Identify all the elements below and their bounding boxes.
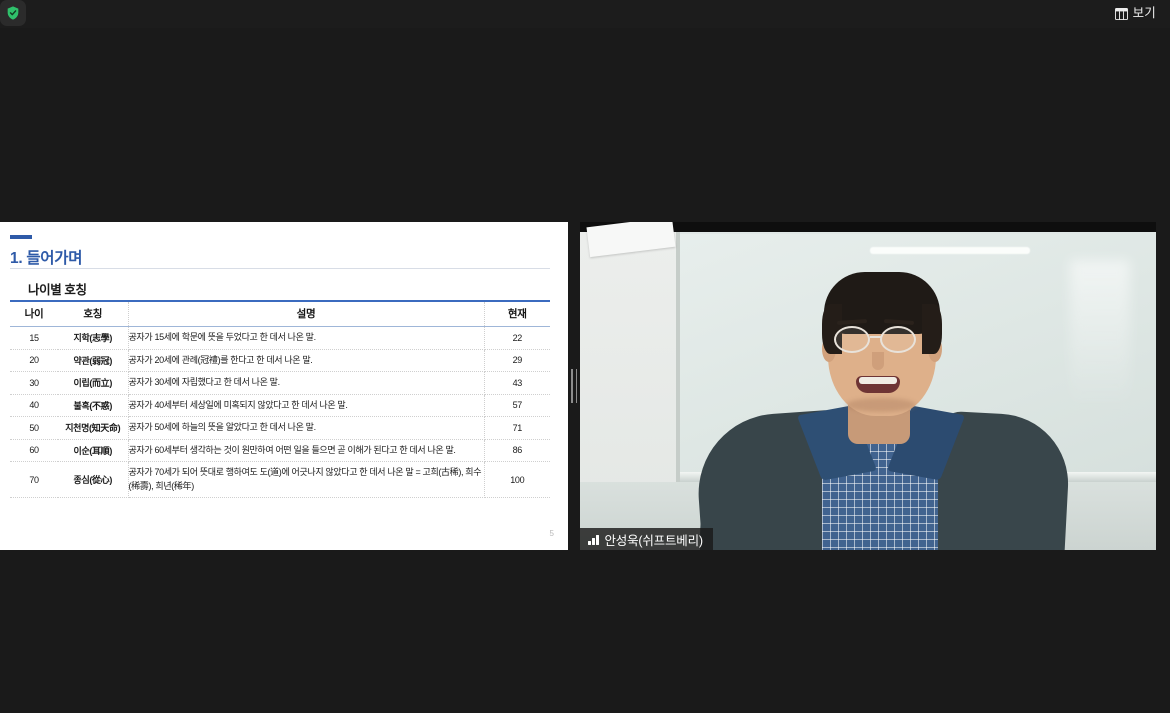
eyeglass-lens-left bbox=[834, 326, 870, 353]
table-row: 60 이순(耳順) 공자가 60세부터 생각하는 것이 원만하여 어떤 일을 들… bbox=[10, 439, 550, 462]
cell-description: 공자가 30세에 자립했다고 한 데서 나온 말. bbox=[128, 372, 484, 395]
cell-description: 공자가 60세부터 생각하는 것이 원만하여 어떤 일을 들으면 곧 이해가 된… bbox=[128, 439, 484, 462]
cell-age: 30 bbox=[10, 372, 58, 395]
cell-name: 약관(弱冠) bbox=[58, 349, 128, 372]
cell-name: 지천명(知天命) bbox=[58, 417, 128, 440]
cell-current: 22 bbox=[484, 327, 550, 350]
ceiling-light-reflection bbox=[870, 247, 1030, 254]
cell-age: 70 bbox=[10, 462, 58, 498]
meeting-top-bar: 보기 bbox=[0, 0, 1170, 28]
shared-screen-panel[interactable]: 1. 들어가며 나이별 호칭 나이 호칭 설명 현재 bbox=[0, 222, 568, 550]
table-header-row: 나이 호칭 설명 현재 bbox=[10, 301, 550, 327]
hair-side-right bbox=[922, 304, 942, 354]
signal-bars-icon bbox=[588, 534, 599, 545]
cell-current: 43 bbox=[484, 372, 550, 395]
cell-age: 20 bbox=[10, 349, 58, 372]
meeting-stage: 1. 들어가며 나이별 호칭 나이 호칭 설명 현재 bbox=[0, 222, 1170, 550]
view-button[interactable]: 보기 bbox=[1109, 3, 1162, 24]
cell-current: 86 bbox=[484, 439, 550, 462]
slide-subtitle: 나이별 호칭 bbox=[28, 279, 87, 298]
cell-age: 40 bbox=[10, 394, 58, 417]
chin-shadow bbox=[846, 398, 916, 412]
table-body: 15 지학(志學) 공자가 15세에 학문에 뜻을 두었다고 한 데서 나온 말… bbox=[10, 327, 550, 498]
cell-age: 60 bbox=[10, 439, 58, 462]
zoom-meeting-window: 보기 1. 들어가며 나이별 호칭 나이 호칭 bbox=[0, 0, 1170, 713]
eyeglass-lens-right bbox=[880, 326, 916, 353]
cell-age: 15 bbox=[10, 327, 58, 350]
video-feed: 안성욱(쉬프트베리) bbox=[580, 222, 1156, 550]
column-header-age: 나이 bbox=[10, 301, 58, 327]
security-shield-icon[interactable] bbox=[0, 0, 26, 26]
cell-current: 71 bbox=[484, 417, 550, 440]
column-header-description: 설명 bbox=[128, 301, 484, 327]
cell-current: 100 bbox=[484, 462, 550, 498]
slide-content: 1. 들어가며 나이별 호칭 나이 호칭 설명 현재 bbox=[0, 222, 568, 550]
cell-current: 29 bbox=[484, 349, 550, 372]
table-row: 50 지천명(知天命) 공자가 50세에 하늘의 뜻을 알았다고 한 데서 나온… bbox=[10, 417, 550, 440]
title-accent-dash bbox=[10, 235, 32, 239]
cell-age: 50 bbox=[10, 417, 58, 440]
grid-view-icon bbox=[1115, 8, 1128, 20]
view-button-label: 보기 bbox=[1133, 7, 1156, 20]
cell-name: 불혹(不惑) bbox=[58, 394, 128, 417]
cell-name: 지학(志學) bbox=[58, 327, 128, 350]
cell-description: 공자가 70세가 되어 뜻대로 행하여도 도(道)에 어긋나지 않았다고 한 데… bbox=[128, 462, 484, 498]
person-mouth bbox=[856, 376, 900, 393]
panel-resize-handle[interactable] bbox=[568, 222, 580, 550]
eyeglass-bridge bbox=[870, 336, 882, 338]
cell-description: 공자가 15세에 학문에 뜻을 두었다고 한 데서 나온 말. bbox=[128, 327, 484, 350]
table-row: 15 지학(志學) 공자가 15세에 학문에 뜻을 두었다고 한 데서 나온 말… bbox=[10, 327, 550, 350]
age-titles-table: 나이 호칭 설명 현재 15 지학(志學) 공자가 15세에 학문에 뜻을 두었… bbox=[10, 300, 550, 498]
title-divider bbox=[10, 268, 550, 269]
table-row: 40 불혹(不惑) 공자가 40세부터 세상일에 미혹되지 않았다고 한 데서 … bbox=[10, 394, 550, 417]
cell-description: 공자가 40세부터 세상일에 미혹되지 않았다고 한 데서 나온 말. bbox=[128, 394, 484, 417]
slide-page-number: 5 bbox=[550, 529, 554, 538]
cell-current: 57 bbox=[484, 394, 550, 417]
cell-description: 공자가 20세에 관례(冠禮)를 한다고 한 데서 나온 말. bbox=[128, 349, 484, 372]
table-row: 30 이립(而立) 공자가 30세에 자립했다고 한 데서 나온 말. 43 bbox=[10, 372, 550, 395]
slide-title: 1. 들어가며 bbox=[10, 246, 82, 268]
person-teeth bbox=[859, 377, 897, 384]
whiteboard-glare bbox=[1070, 260, 1130, 410]
table-row: 20 약관(弱冠) 공자가 20세에 관례(冠禮)를 한다고 한 데서 나온 말… bbox=[10, 349, 550, 372]
resize-grip-icon bbox=[571, 369, 577, 403]
participant-video-tile[interactable]: 안성욱(쉬프트베리) bbox=[580, 222, 1156, 550]
person-nose bbox=[872, 352, 884, 370]
participant-name-text: 안성욱(쉬프트베리) bbox=[605, 530, 703, 549]
column-header-current: 현재 bbox=[484, 301, 550, 327]
column-header-name: 호칭 bbox=[58, 301, 128, 327]
table-row: 70 종심(從心) 공자가 70세가 되어 뜻대로 행하여도 도(道)에 어긋나… bbox=[10, 462, 550, 498]
participant-name-label: 안성욱(쉬프트베리) bbox=[580, 528, 713, 550]
cell-description: 공자가 50세에 하늘의 뜻을 알았다고 한 데서 나온 말. bbox=[128, 417, 484, 440]
cell-name: 종심(從心) bbox=[58, 462, 128, 498]
participant-person bbox=[730, 264, 1030, 550]
cell-name: 이순(耳順) bbox=[58, 439, 128, 462]
cell-name: 이립(而立) bbox=[58, 372, 128, 395]
